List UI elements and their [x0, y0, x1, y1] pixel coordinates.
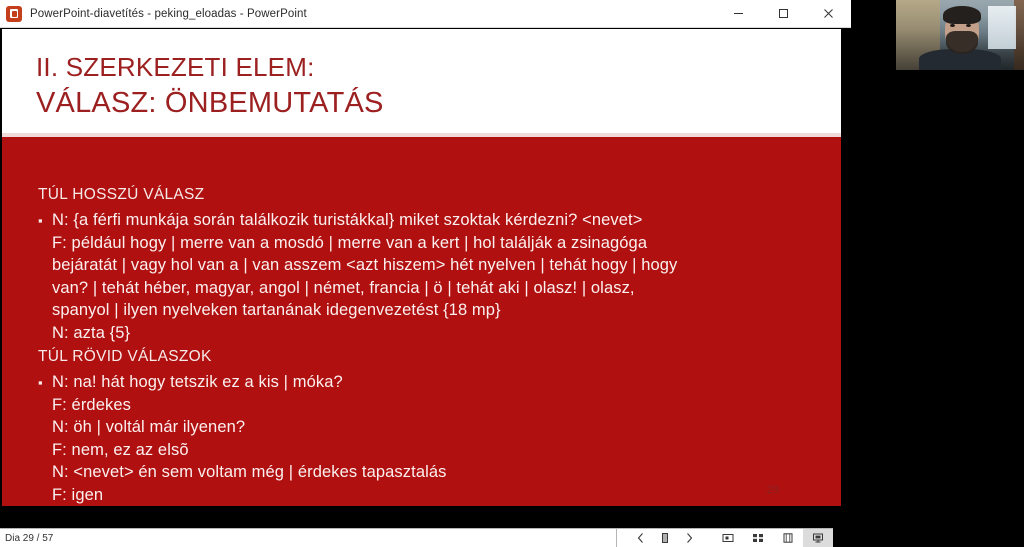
bullet-block-too-long: ▪ N: {a férfi munkája során találkozik t…	[38, 209, 825, 345]
slideshow-nav-toolbar	[617, 528, 833, 547]
minimize-button[interactable]	[716, 0, 761, 27]
bullet-block-too-short: ▪ N: na! hát hogy tetszik ez a kis | mók…	[38, 371, 825, 506]
title-bar: PowerPoint-diavetítés - peking_eloadas -…	[0, 0, 851, 28]
nav-spacer	[617, 529, 629, 547]
slide-number: 29	[767, 484, 779, 496]
webcam-person-beard	[946, 31, 978, 54]
nav-spacer	[701, 529, 713, 547]
webcam-video-overlay[interactable]	[896, 0, 1024, 70]
slide-title-line1: II. SZERKEZETI ELEM:	[36, 52, 315, 82]
pen-tools-button[interactable]	[653, 529, 677, 547]
previous-slide-button[interactable]	[629, 529, 653, 547]
slide-header: II. SZERKEZETI ELEM:VÁLASZ: ÖNBEMUTATÁS	[2, 29, 841, 133]
section-heading-too-long: TÚL HOSSZÚ VÁLASZ	[38, 186, 204, 204]
section-text-too-short: N: na! hát hogy tetszik ez a kis | móka?…	[52, 371, 446, 506]
page-title: II. SZERKEZETI ELEM:VÁLASZ: ÖNBEMUTATÁS	[36, 49, 384, 121]
slide-canvas[interactable]: II. SZERKEZETI ELEM:VÁLASZ: ÖNBEMUTATÁS …	[2, 29, 841, 506]
presenter-options-button[interactable]	[803, 529, 833, 547]
section-heading-too-short: TÚL RÖVID VÁLASZOK	[38, 348, 212, 366]
status-bar: Dia 29 / 57	[0, 528, 617, 547]
window-title: PowerPoint-diavetítés - peking_eloadas -…	[30, 8, 307, 20]
all-slides-button[interactable]	[743, 529, 773, 547]
letterbox-right	[841, 0, 1024, 547]
powerpoint-slideshow-window: PowerPoint-diavetítés - peking_eloadas -…	[0, 0, 1024, 547]
slide-counter-text: Dia 29 / 57	[5, 533, 53, 544]
next-slide-button[interactable]	[677, 529, 701, 547]
powerpoint-icon	[6, 6, 22, 22]
webcam-person-hair	[943, 6, 981, 24]
slide-body: TÚL HOSSZÚ VÁLASZ ▪ N: {a férfi munkája …	[2, 137, 841, 506]
webcam-window-light	[988, 6, 1016, 49]
bullet-marker-icon: ▪	[38, 209, 52, 345]
section-text-too-long: N: {a férfi munkája során találkozik tur…	[52, 209, 677, 345]
close-button[interactable]	[806, 0, 851, 27]
slide-title-line2: VÁLASZ: ÖNBEMUTATÁS	[36, 87, 384, 119]
laser-pointer-button[interactable]	[713, 529, 743, 547]
bullet-marker-icon: ▪	[38, 371, 52, 506]
maximize-button[interactable]	[761, 0, 806, 27]
webcam-background	[896, 0, 1024, 70]
zoom-slide-button[interactable]	[773, 529, 803, 547]
window-controls	[716, 0, 851, 27]
webcam-person-eye-left	[950, 24, 955, 27]
